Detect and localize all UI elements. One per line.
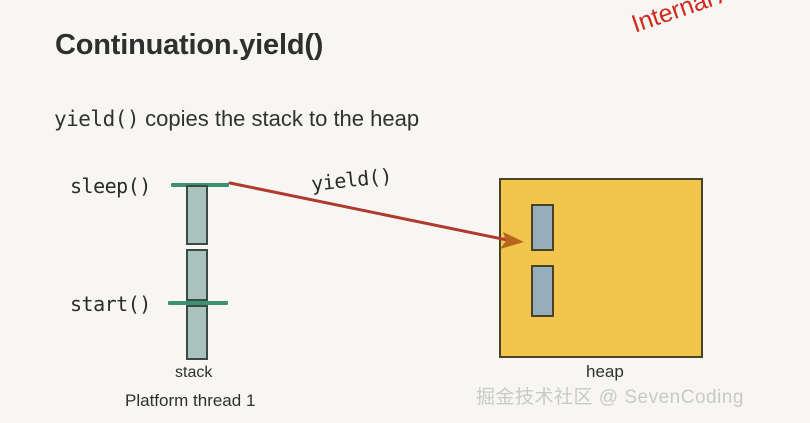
stack-label-start: start() bbox=[70, 292, 151, 316]
stack-frame bbox=[186, 249, 208, 301]
subtitle-code: yield() bbox=[54, 107, 139, 131]
stack-caption: stack bbox=[175, 364, 212, 382]
platform-thread-caption: Platform thread 1 bbox=[125, 391, 255, 411]
slide-canvas: Continuation.yield() Internal API yield(… bbox=[0, 0, 810, 423]
heap-box bbox=[499, 178, 703, 358]
heap-object bbox=[531, 204, 554, 251]
heap-caption: heap bbox=[586, 362, 624, 382]
stack-frame bbox=[186, 185, 208, 245]
stack-frame bbox=[186, 305, 208, 360]
subtitle: yield() copies the stack to the heap bbox=[54, 106, 419, 132]
yield-arrow-label: yield() bbox=[310, 164, 393, 196]
stack-label-sleep: sleep() bbox=[70, 174, 151, 198]
internal-api-stamp: Internal API bbox=[628, 0, 760, 39]
watermark: 掘金技术社区 @ SevenCoding bbox=[476, 382, 744, 409]
page-title: Continuation.yield() bbox=[55, 29, 323, 62]
heap-object bbox=[531, 265, 554, 317]
subtitle-text: copies the stack to the heap bbox=[139, 106, 419, 131]
